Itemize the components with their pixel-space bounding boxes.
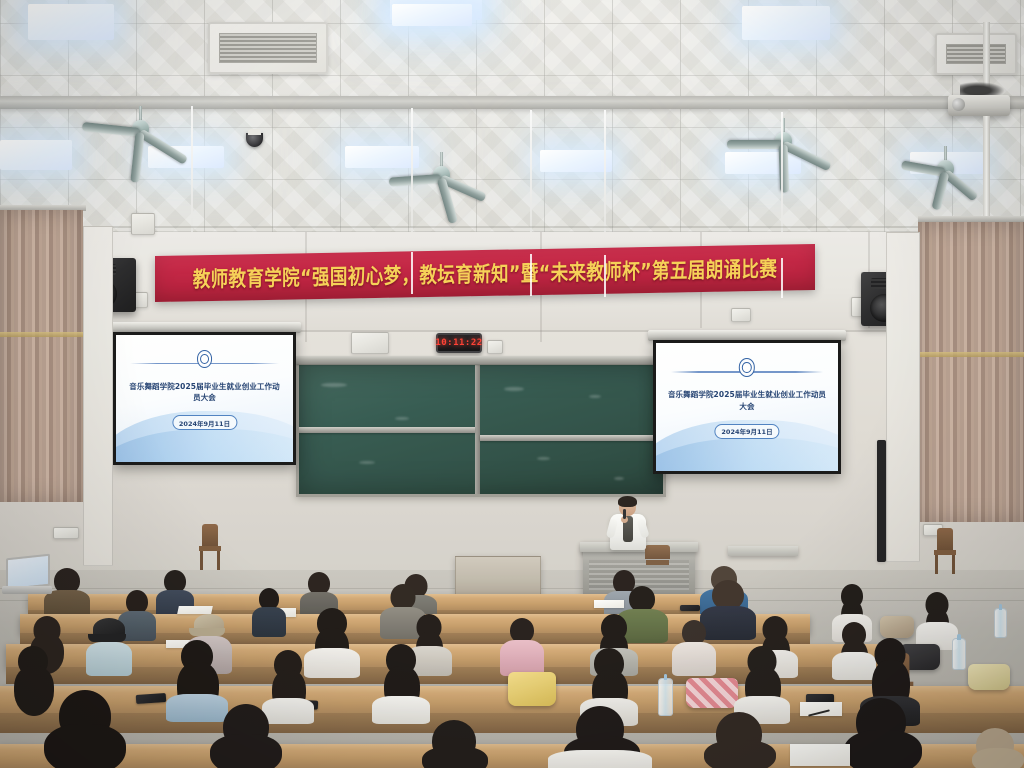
person-torso: [548, 750, 652, 768]
university-seal-icon: [739, 358, 755, 376]
presenter-at-podium: [608, 497, 648, 555]
panel-light: [742, 6, 830, 40]
phone-on-desk[interactable]: [680, 605, 700, 611]
audience-person: [252, 588, 286, 636]
wall-mounted-box: [131, 213, 155, 235]
presenter-hair: [618, 496, 637, 507]
curtain-tie-left: [0, 332, 83, 337]
person-hair: [972, 748, 1024, 768]
banner-string: [411, 252, 413, 294]
panel-light: [345, 146, 419, 168]
wall-mounted-box: [53, 527, 79, 539]
ceiling-fan: [432, 152, 450, 186]
audience-person: [30, 690, 140, 768]
person-torso: [500, 640, 544, 676]
ceiling-fan: [774, 118, 792, 152]
person-torso: [252, 607, 286, 637]
wooden-chair-right-wall: [934, 528, 956, 574]
person-torso: [86, 642, 132, 676]
water-bottle: [952, 638, 966, 670]
banner-string: [530, 254, 532, 296]
chalkboard-rail: [299, 427, 475, 433]
ceiling: [0, 0, 1024, 232]
wall-pillar-left: [83, 226, 113, 566]
chalkboard-divider: [475, 365, 480, 497]
wall-mounted-box: [731, 308, 751, 322]
ceiling-beam: [0, 96, 1024, 109]
window-curtain-left[interactable]: [0, 210, 83, 502]
ceiling-tiles: [0, 0, 1024, 232]
panel-light: [28, 4, 114, 40]
led-clock-display: 10:11:22: [436, 333, 482, 353]
audience-person: [372, 644, 430, 722]
green-chalkboard: [296, 362, 666, 497]
banner-string: [604, 255, 606, 297]
slide-date-right: 2024年9月11日: [714, 424, 779, 439]
audience-person: [690, 712, 788, 768]
chalkboard-rail: [480, 435, 666, 441]
audience-person: [408, 720, 500, 768]
audience-person: [86, 618, 132, 674]
person-torso: [672, 642, 716, 676]
person-hair: [844, 730, 922, 768]
panel-light: [725, 152, 801, 174]
bag-on-desk: [968, 664, 1010, 690]
audience-person: [672, 620, 716, 676]
person-hair: [704, 740, 776, 768]
chalkboard-top-rail: [296, 356, 666, 364]
slide-title-left: 音乐舞蹈学院2025届毕业生就业创业工作动员大会: [127, 381, 283, 404]
laptop-keyboard[interactable]: [2, 586, 52, 594]
banner-text: 教师教育学院“强国初心梦，教坛育新知”暨“未来教师杯”第五届朗诵比赛: [193, 252, 778, 293]
bag-on-desk: [880, 616, 914, 638]
slide-title-right: 音乐舞蹈学院2025届毕业生就业创业工作动员大会: [667, 389, 827, 412]
ceiling-projector: [948, 95, 1010, 116]
microphone-icon: [623, 509, 626, 519]
projection-screen-left: 音乐舞蹈学院2025届毕业生就业创业工作动员大会 2024年9月11日: [113, 332, 296, 465]
curtain-tie-right: [918, 352, 1024, 357]
black-wall-strip: [877, 440, 886, 562]
audience-person: [548, 706, 652, 768]
lecture-hall-photo: 教师教育学院“强国初心梦，教坛育新知”暨“未来教师杯”第五届朗诵比赛 10:11…: [0, 0, 1024, 768]
university-seal-icon: [197, 350, 213, 368]
person-hair: [422, 746, 488, 768]
window-curtain-right[interactable]: [918, 222, 1024, 522]
panel-light: [0, 140, 72, 170]
wall-pillar-right: [886, 232, 920, 562]
water-bottle: [658, 678, 673, 716]
projector-mount-pole: [983, 22, 990, 88]
wall-mounted-box: [487, 340, 503, 354]
console-desk-wing-right: [728, 546, 798, 556]
audience-person: [500, 618, 544, 676]
person-hair: [210, 734, 282, 768]
slide-right: 音乐舞蹈学院2025届毕业生就业创业工作动员大会 2024年9月11日: [656, 343, 838, 471]
audience-person: [960, 728, 1024, 768]
paper-on-desk: [790, 744, 850, 766]
paper-on-desk: [177, 606, 213, 614]
slide-left: 音乐舞蹈学院2025届毕业生就业创业工作动员大会 2024年9月11日: [116, 335, 293, 462]
audience-person: [734, 646, 790, 722]
open-laptop[interactable]: [6, 554, 50, 591]
wooden-chair-left-wall: [199, 524, 221, 570]
ac-vent: [935, 33, 1017, 75]
person-hair: [44, 724, 126, 768]
bag-on-desk: [508, 672, 556, 706]
panel-light: [540, 150, 612, 172]
ceiling-fan: [131, 106, 149, 140]
wall-mounted-box: [351, 332, 389, 354]
clock-time: 10:11:22: [435, 338, 482, 348]
cap-brim: [88, 634, 126, 642]
cap-brim: [189, 628, 225, 636]
panel-light: [392, 4, 472, 26]
ac-vent: [208, 22, 328, 74]
banner-string: [781, 258, 783, 298]
slide-date-left: 2024年9月11日: [172, 415, 237, 430]
bag-on-desk: [686, 678, 738, 708]
wooden-chair-at-podium: [645, 545, 670, 575]
ceiling-fan: [936, 146, 954, 180]
audience-person: [198, 704, 294, 768]
water-bottle: [994, 608, 1007, 638]
projection-screen-right: 音乐舞蹈学院2025届毕业生就业创业工作动员大会 2024年9月11日: [653, 340, 841, 474]
